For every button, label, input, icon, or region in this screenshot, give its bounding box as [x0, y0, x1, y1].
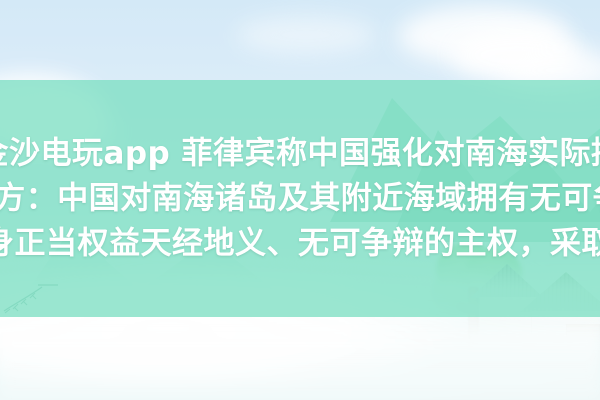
- headline-line-3: 护自身正当权益天经地义、无可争辩的主权，采取行动维护自身正当权益天经地义、无可: [0, 221, 600, 266]
- cloud-icon: [236, 16, 376, 54]
- headline-text: 金沙电玩app 菲律宾称中国强化对南海实际控 制 中方：中国对南海诸岛及其附近海…: [0, 131, 600, 266]
- banner-image: 金沙电玩app 菲律宾称中国强化对南海实际控 制 中方：中国对南海诸岛及其附近海…: [0, 0, 600, 400]
- headline-overlay-band: 金沙电玩app 菲律宾称中国强化对南海实际控 制 中方：中国对南海诸岛及其附近海…: [0, 80, 600, 317]
- headline-line-2: 制 中方：中国对南海诸岛及其附近海域拥有无可争辩的主权，采取行动维: [0, 176, 600, 221]
- headline-line-1: 金沙电玩app 菲律宾称中国强化对南海实际控: [0, 131, 600, 176]
